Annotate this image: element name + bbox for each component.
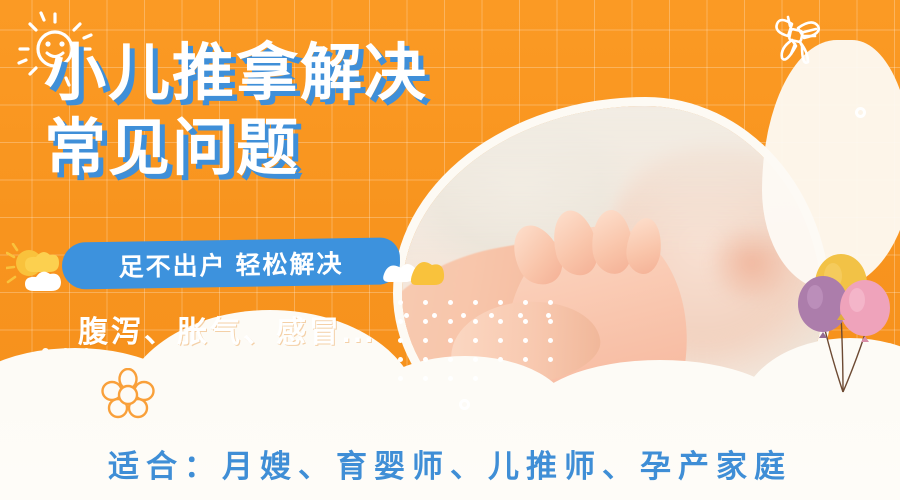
ring-outline-icon: [855, 107, 866, 118]
dot: [523, 338, 528, 343]
highlight-ribbon: 足不出户 轻松解决: [62, 237, 401, 289]
dot: [498, 357, 503, 362]
highlight-ribbon-label: 足不出户 轻松解决: [118, 244, 343, 284]
dot: [473, 357, 478, 362]
flower-outline-icon: [100, 368, 156, 422]
balloon-group-icon: [795, 252, 900, 407]
dot: [83, 348, 90, 355]
dot: [398, 338, 403, 343]
dot: [523, 357, 528, 362]
dot: [518, 313, 523, 318]
dot: [423, 376, 428, 381]
dot: [448, 357, 453, 362]
title-line-1: 小儿推拿解决: [44, 42, 428, 105]
ring-outline-icon: [459, 399, 470, 410]
promo-banner: 小儿推拿解决 常见问题 足不出户 轻松解决 腹泻、胀气、感冒...: [0, 0, 900, 500]
dot: [432, 313, 437, 318]
dot: [473, 376, 478, 381]
dot: [548, 338, 553, 343]
cloud-cluster-icon: [6, 243, 92, 305]
dot: [546, 313, 551, 318]
dot: [423, 338, 428, 343]
dot-row-pattern: [404, 305, 570, 323]
dot: [62, 348, 69, 355]
cloud-cluster-icon: [370, 248, 462, 300]
dot: [548, 357, 553, 362]
dot: [448, 338, 453, 343]
dot: [404, 313, 409, 318]
dot: [498, 338, 503, 343]
dot-row-pattern: [42, 342, 99, 360]
dot: [42, 348, 49, 355]
dot: [461, 313, 466, 318]
dot: [398, 376, 403, 381]
dot: [489, 313, 494, 318]
bow-ribbon-icon: [768, 12, 830, 70]
title-line-2: 常见问题: [44, 117, 428, 180]
dot: [423, 357, 428, 362]
dot: [448, 376, 453, 381]
dot: [398, 357, 403, 362]
dot: [473, 338, 478, 343]
footer-audience-line: 适合：月嫂、育婴师、儿推师、孕产家庭: [0, 441, 900, 486]
dot: [398, 300, 403, 305]
banner-subtitle: 腹泻、胀气、感冒...: [78, 307, 376, 351]
dot: [398, 319, 403, 324]
banner-title: 小儿推拿解决 常见问题: [44, 42, 428, 180]
